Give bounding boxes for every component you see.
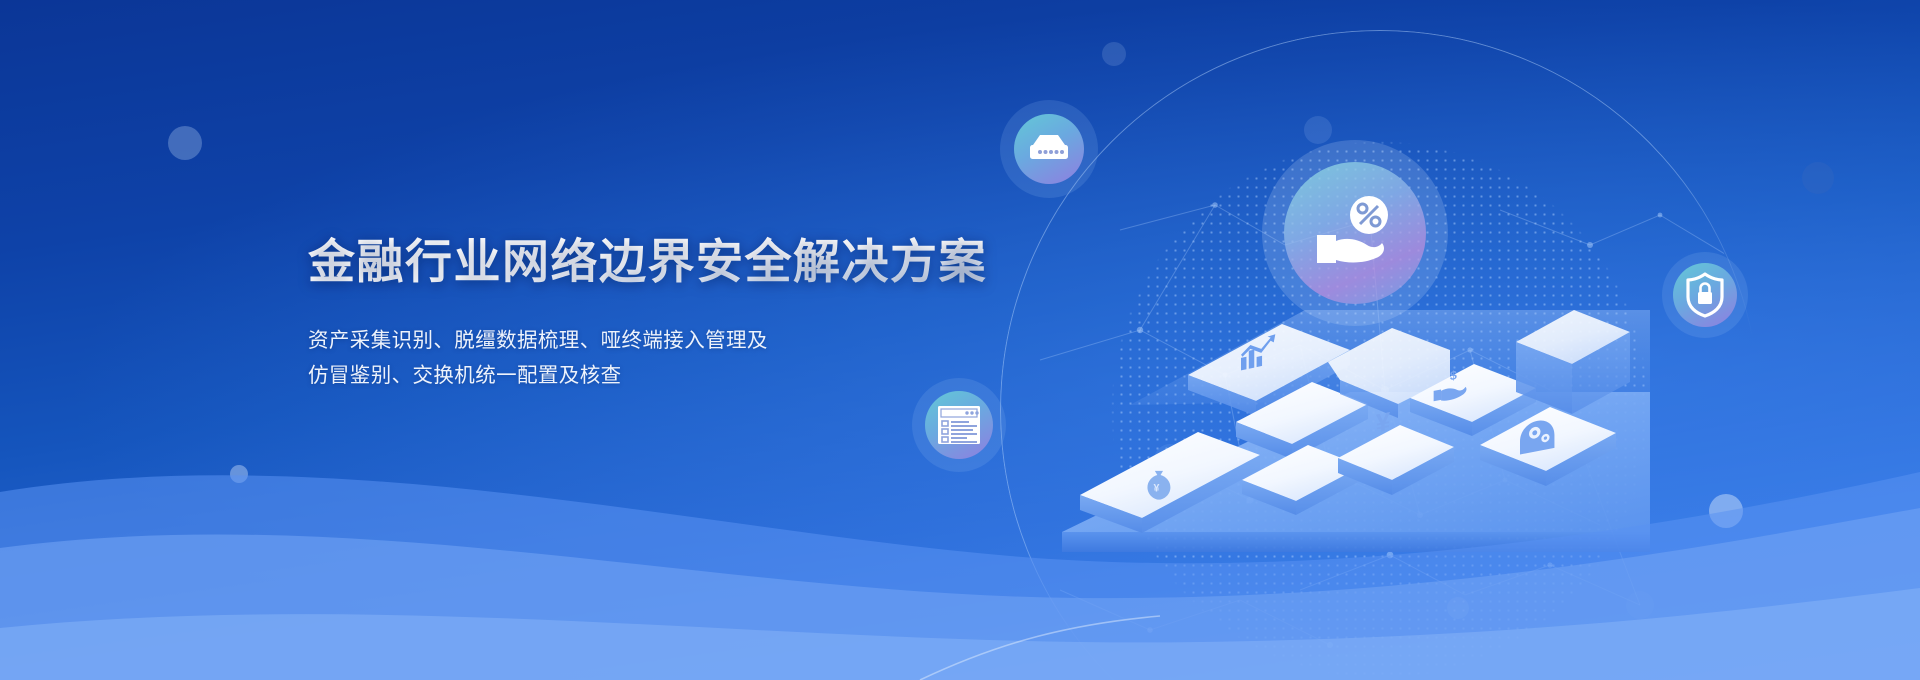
badge-network-switch — [1000, 100, 1098, 198]
badge-percent-hand — [1262, 140, 1448, 326]
hero-banner: ¥ — [0, 0, 1920, 680]
subtitle-line-2: 仿冒鉴别、交换机统一配置及核查 — [308, 358, 988, 393]
hand-holding-percent-icon — [1309, 195, 1401, 271]
shield-lock-icon — [1685, 272, 1725, 318]
network-switch-icon — [1024, 132, 1074, 166]
bokeh-dot — [1802, 162, 1834, 194]
hero-copy: 金融行业网络边界安全解决方案 资产采集识别、脱缰数据梳理、哑终端接入管理及 仿冒… — [308, 236, 988, 393]
document-list-icon — [936, 404, 982, 446]
bokeh-dot — [168, 126, 202, 160]
badge-shield-lock — [1662, 252, 1748, 338]
page-subtitle: 资产采集识别、脱缰数据梳理、哑终端接入管理及 仿冒鉴别、交换机统一配置及核查 — [308, 323, 988, 394]
page-title: 金融行业网络边界安全解决方案 — [308, 236, 988, 289]
bokeh-dot — [1304, 116, 1332, 144]
subtitle-line-1: 资产采集识别、脱缰数据梳理、哑终端接入管理及 — [308, 323, 988, 358]
bokeh-dot — [1102, 42, 1126, 66]
